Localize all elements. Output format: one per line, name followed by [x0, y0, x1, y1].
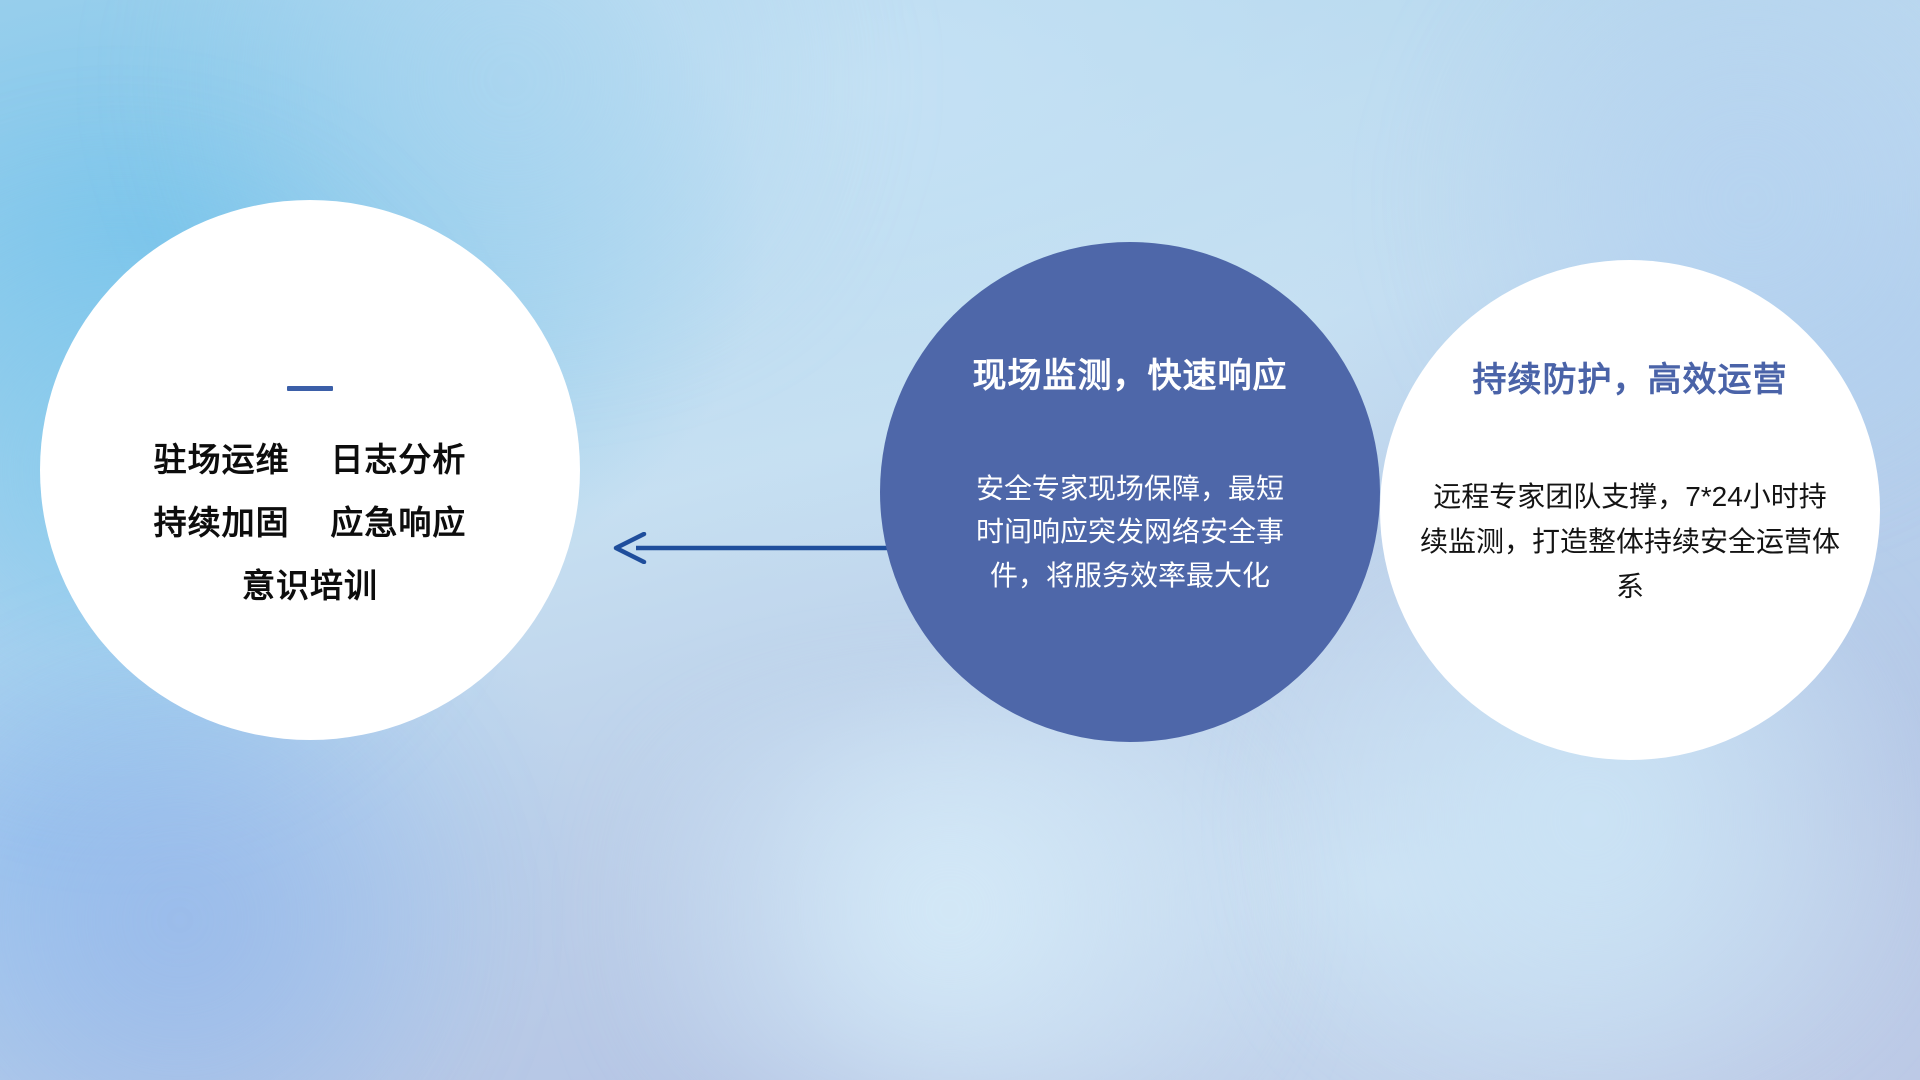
capability-line-2: 持续加固 应急响应: [100, 506, 520, 539]
continuous-protection-body: 远程专家团队支撑，7*24小时持续监测，打造整体持续安全运营体系: [1420, 475, 1840, 609]
background-blob-bottom-center: [500, 700, 1400, 1080]
slide-canvas: 驻场运维 日志分析 持续加固 应急响应 意识培训 现场监测，快速响应 安全专家现…: [0, 0, 1920, 1080]
onsite-monitoring-title: 现场监测，快速响应: [973, 348, 1288, 397]
arrow-left-icon: [610, 532, 900, 564]
capability-circle-left: 驻场运维 日志分析 持续加固 应急响应 意识培训: [40, 200, 580, 740]
onsite-monitoring-circle: 现场监测，快速响应 安全专家现场保障，最短时间响应突发网络安全事件，将服务效率最…: [880, 242, 1380, 742]
capability-list: 驻场运维 日志分析 持续加固 应急响应 意识培训: [100, 386, 520, 602]
continuous-protection-title: 持续防护，高效运营: [1473, 352, 1788, 401]
onsite-monitoring-body: 安全专家现场保障，最短时间响应突发网络安全事件，将服务效率最大化: [965, 467, 1295, 597]
capability-line-1: 驻场运维 日志分析: [100, 443, 520, 476]
divider-dash-icon: [287, 386, 333, 391]
continuous-protection-circle: 持续防护，高效运营 远程专家团队支撑，7*24小时持续监测，打造整体持续安全运营…: [1380, 260, 1880, 760]
capability-line-3: 意识培训: [100, 569, 520, 602]
